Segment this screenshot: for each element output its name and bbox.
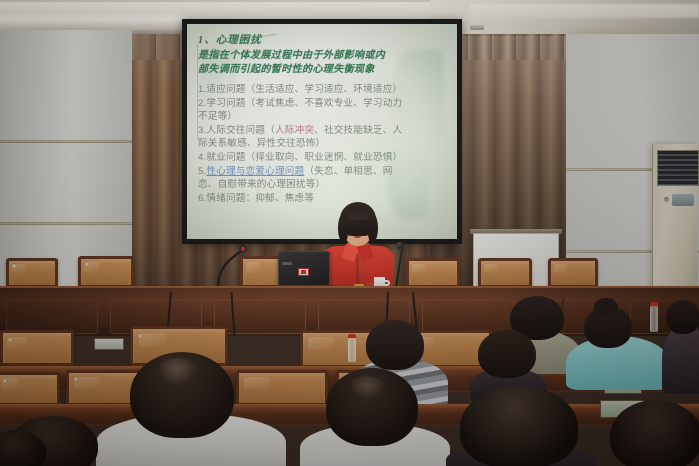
empty-chair — [0, 330, 74, 366]
chair-stud — [85, 262, 89, 266]
audience-white-shirt-center — [96, 352, 286, 466]
empty-chair — [78, 256, 134, 288]
audience-bottom-right — [610, 400, 699, 466]
chair-stud — [3, 379, 7, 383]
gooseneck-microphone — [212, 245, 250, 291]
water-bottle — [650, 306, 658, 332]
presenter-hair-side — [338, 214, 348, 242]
bottle-cap — [348, 334, 356, 338]
chair-stud — [138, 334, 142, 338]
empty-chair — [0, 372, 60, 406]
bottle-cap — [650, 302, 658, 306]
microphone-head — [396, 242, 403, 249]
chair-stud — [74, 377, 78, 381]
empty-chair — [406, 258, 460, 288]
audience-white-shirt-left — [300, 368, 450, 466]
seat-nameplate — [94, 338, 124, 350]
soffit-highlight — [470, 4, 699, 18]
laptop-label — [282, 262, 292, 265]
laptop-logo-inner — [301, 270, 306, 274]
audience-front-dark-hair — [446, 386, 596, 466]
water-bottle — [348, 338, 356, 362]
screen-mount-bracket — [470, 25, 484, 30]
chair-stud — [8, 338, 12, 342]
audience-far-right — [662, 300, 699, 392]
air-conditioner-grille — [657, 150, 699, 186]
air-conditioner-display — [672, 194, 694, 206]
audience-edge-left — [0, 430, 46, 466]
chair-stud — [12, 264, 16, 268]
empty-chair — [548, 258, 598, 288]
air-conditioner-logo — [664, 197, 669, 202]
presenter-hair-side — [368, 214, 378, 242]
empty-chair — [6, 258, 58, 288]
empty-chair — [478, 258, 532, 288]
lecture-hall-photo: 1、心理困扰 是指在个体发展过程中由于外部影响或内 部失调而引起的暂时性的心理失… — [0, 0, 699, 466]
